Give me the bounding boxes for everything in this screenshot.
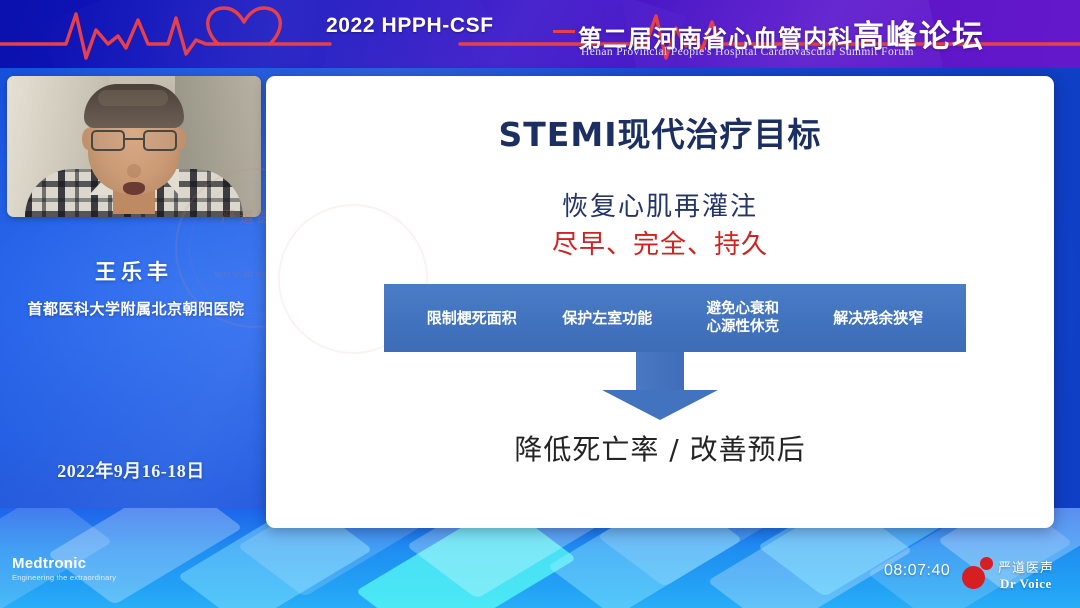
down-arrow-icon (266, 352, 1054, 422)
speaker-video-tile[interactable] (7, 76, 261, 217)
speaker-hair (84, 84, 184, 128)
goal-item-line1: 避免心衰和 (707, 301, 780, 317)
logo-circle-large-icon (962, 566, 985, 589)
event-date: 2022年9月16-18日 (0, 457, 262, 483)
goal-item: 保护左室功能 (540, 309, 676, 328)
presentation-slide[interactable]: STEMI现代治疗目标 恢复心肌再灌注 尽早、完全、持久 限制梗死面积 保护左室… (266, 76, 1054, 528)
glasses-icon (91, 130, 177, 152)
banner-divider-dash (553, 30, 575, 33)
slide-subtitle-primary: 恢复心肌再灌注 (266, 186, 1054, 223)
event-banner: 2022 HPPH-CSF 第二届河南省心血管内科高峰论坛 Henan Prov… (0, 0, 1080, 68)
speaker-mouth (123, 182, 145, 195)
slide-outcome-text: 降低死亡率 / 改善预后 (266, 428, 1054, 468)
slide-title: STEMI现代治疗目标 (266, 108, 1054, 156)
goal-item: 解决残余狭窄 (811, 309, 947, 328)
platform-name-en: Dr Voice (1000, 576, 1052, 592)
banner-latin-title: 2022 HPPH-CSF (326, 14, 494, 38)
goal-item-line1: 解决残余狭窄 (833, 309, 923, 327)
banner-en-subtitle: Henan Provincial People's Hospital Cardi… (581, 46, 914, 58)
speaker-nose (127, 164, 141, 178)
sponsor-name: Medtronic (12, 555, 116, 572)
speaker-affiliation: 首都医科大学附属北京朝阳医院 (0, 298, 275, 319)
goal-item: 避免心衰和 心源性休克 (675, 300, 811, 336)
goal-item-line2: 心源性休克 (707, 319, 780, 335)
treatment-goals-bar: 限制梗死面积 保护左室功能 避免心衰和 心源性休克 解决残余狭窄 (384, 284, 966, 352)
platform-logo[interactable]: 严道医声 Dr Voice (962, 552, 1074, 600)
session-timer: 08:07:40 (884, 562, 950, 580)
goal-item-line1: 保护左室功能 (562, 309, 652, 327)
slide-subtitle-accent: 尽早、完全、持久 (266, 224, 1054, 261)
logo-circle-small-icon (980, 557, 993, 570)
broadcast-stage: 2022 HPPH-CSF 第二届河南省心血管内科高峰论坛 Henan Prov… (0, 0, 1080, 608)
goal-item: 限制梗死面积 (404, 309, 540, 328)
speaker-name: 王乐丰 (0, 256, 268, 286)
goal-item-line1: 限制梗死面积 (427, 309, 517, 327)
sponsor-logo: Medtronic Engineering the extraordinary (12, 555, 116, 582)
sponsor-tagline: Engineering the extraordinary (12, 573, 116, 582)
platform-name-cn: 严道医声 (998, 557, 1054, 576)
